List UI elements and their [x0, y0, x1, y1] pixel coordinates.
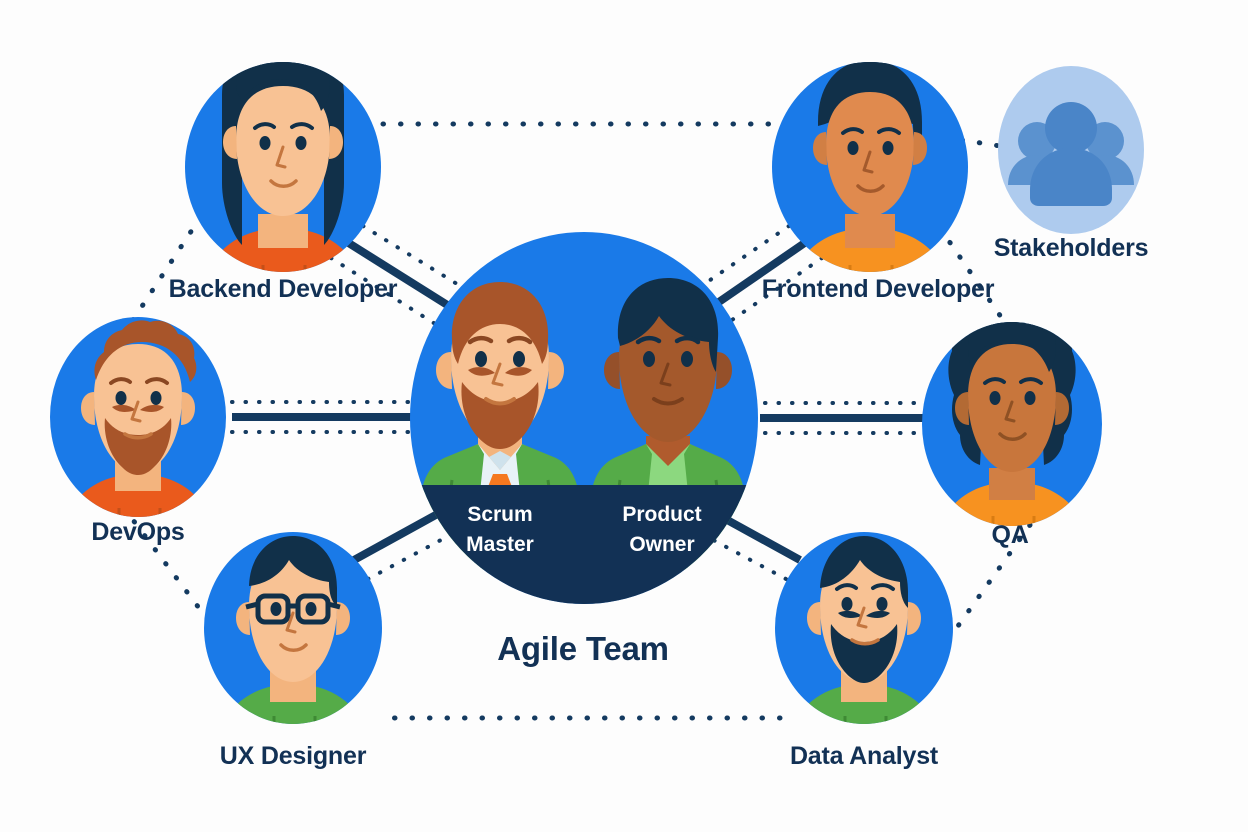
label-agile-team: Agile Team: [497, 630, 669, 668]
label-devops: DevOps: [91, 518, 184, 547]
nodes-layer: Scrum Master Product Owner: [0, 0, 1248, 832]
node-agile-team-center[interactable]: Scrum Master Product Owner: [400, 232, 770, 615]
label-data-analyst: Data Analyst: [790, 742, 938, 771]
role-product-owner-line1: Product: [622, 503, 701, 526]
node-stakeholders[interactable]: [998, 66, 1144, 234]
agile-team-diagram: Scrum Master Product Owner Backend Devel…: [0, 0, 1248, 832]
role-product-owner-line2: Owner: [629, 533, 694, 556]
label-frontend-developer: Frontend Developer: [762, 275, 995, 304]
role-scrum-master-line2: Master: [466, 533, 534, 556]
label-qa: QA: [991, 521, 1028, 550]
label-stakeholders: Stakeholders: [994, 234, 1149, 263]
center-role-banner: [400, 485, 770, 615]
label-backend-developer: Backend Developer: [169, 275, 398, 304]
label-ux-designer: UX Designer: [220, 742, 366, 771]
role-scrum-master-line1: Scrum: [467, 503, 532, 526]
